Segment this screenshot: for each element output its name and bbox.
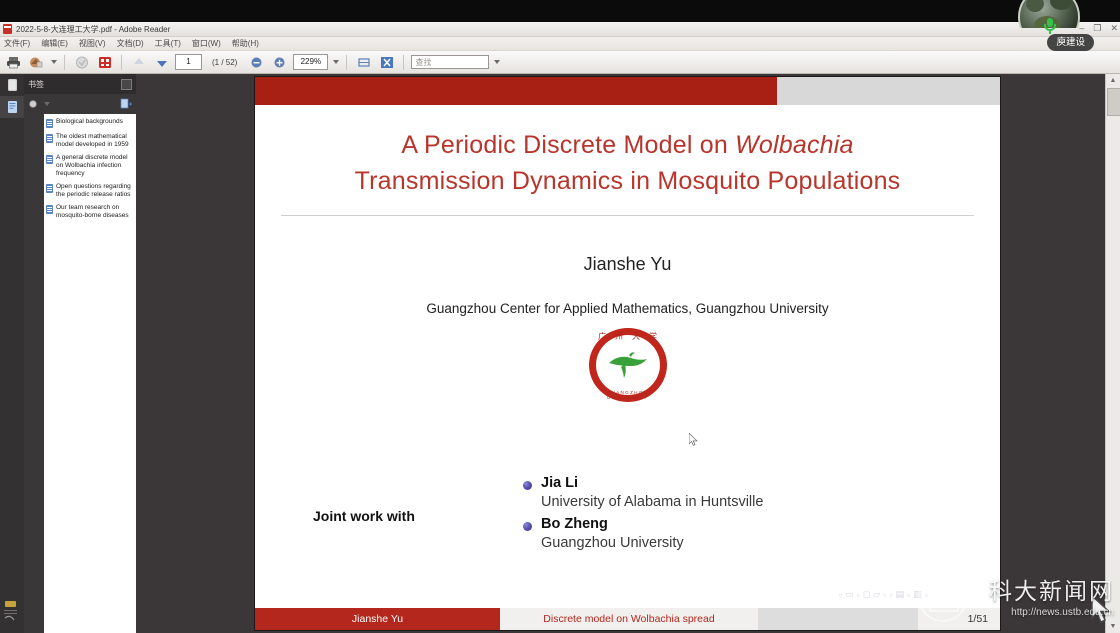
footer-subject: Discrete model on Wolbachia spread [500, 608, 758, 630]
watermark-seal-icon [918, 572, 968, 622]
toolbar[interactable]: 1 (1 / 52) 229% [0, 51, 1120, 74]
bookmarks-icon[interactable] [0, 96, 24, 118]
toolbar-separator-4 [403, 55, 404, 70]
close-button[interactable]: ✕ [1110, 23, 1118, 33]
nav-glyph-icon[interactable]: ▫ [839, 590, 842, 600]
nav-glyph-icon[interactable]: ▭ [845, 589, 854, 600]
banner-red-block [255, 77, 777, 105]
bookmarks-panel: 书签 Biological backgroun [24, 74, 137, 633]
bookmarks-panel-header: 书签 [24, 74, 136, 94]
logo-en-text: GUANGZHOU UNIVERSITY [589, 390, 667, 400]
page-number-input[interactable]: 1 [175, 54, 202, 70]
window-title: 2022-5-8-大连理工大学.pdf - Adobe Reader [16, 24, 170, 35]
window-controls[interactable]: – ❐ ✕ [1079, 23, 1118, 33]
pdf-viewport[interactable]: A Periodic Discrete Model on Wolbachia T… [136, 74, 1106, 633]
bookmarks-list[interactable]: Biological backgrounds The oldest mathem… [44, 114, 136, 633]
slide-author: Jianshe Yu [255, 254, 1000, 275]
slide-top-banner [255, 77, 1000, 105]
zoom-dropdown-icon[interactable] [333, 60, 339, 64]
joint-work-label: Joint work with [313, 475, 523, 557]
menu-file[interactable]: 文件(F) [4, 38, 30, 49]
vertical-scrollbar[interactable]: ▲ ▼ [1105, 74, 1120, 633]
bookmark-icon [46, 134, 53, 143]
screen-share-cursor [1090, 594, 1116, 624]
footer-spacer [758, 608, 918, 630]
bookmark-icon [46, 205, 53, 214]
expand-bookmarks-icon[interactable] [120, 98, 132, 110]
pdf-page: A Periodic Discrete Model on Wolbachia T… [255, 77, 1000, 630]
options-dropdown-icon[interactable] [44, 102, 50, 106]
title-underline [281, 215, 974, 216]
slide-title-wolbachia: Wolbachia [735, 131, 854, 159]
menu-edit[interactable]: 编辑(E) [41, 38, 68, 49]
menu-window[interactable]: 窗口(W) [192, 38, 221, 49]
logo-emblem-icon [605, 350, 651, 380]
options-icon[interactable] [28, 99, 40, 110]
zoom-level-input[interactable]: 229% [293, 54, 328, 70]
speaker-name-badge: 庾建设 [1047, 34, 1094, 51]
slide-footer: Jianshe Yu Discrete model on Wolbachia s… [255, 608, 1000, 630]
bookmark-icon [46, 155, 53, 164]
bookmark-item[interactable]: The oldest mathematical model developed … [46, 133, 134, 149]
guangzhou-university-logo: 广州大学 GUANGZHOU UNIVERSITY [589, 328, 667, 402]
nav-glyph-icon[interactable]: ◻ [863, 589, 870, 600]
email-icon[interactable] [27, 53, 46, 71]
toolbar-separator-2 [121, 55, 122, 70]
toolbar-separator-3 [346, 55, 347, 70]
zoom-out-icon[interactable] [247, 53, 266, 71]
collaborator-list: Jia Li University of Alabama in Huntsvil… [523, 475, 942, 557]
save-icon[interactable] [72, 53, 91, 71]
joint-work-section: Joint work with Jia Li University of Ala… [255, 475, 1000, 557]
minimize-button[interactable]: – [1079, 23, 1084, 33]
scroll-up-arrow-icon[interactable]: ▲ [1106, 74, 1120, 87]
bookmark-label: The oldest mathematical model developed … [56, 133, 134, 149]
panel-close-icon[interactable] [121, 79, 132, 90]
collaborator-affiliation: University of Alabama in Huntsville [541, 494, 942, 510]
page-count-label: (1 / 52) [212, 58, 237, 67]
screen-share-background: 2022-5-8-大连理工大学.pdf - Adobe Reader – ❐ ✕… [0, 0, 1120, 630]
nav-glyph-icon[interactable]: ▫ [883, 590, 886, 600]
collaborator-name: Bo Zheng [541, 516, 608, 532]
nav-glyph-icon[interactable]: ▫ [907, 590, 910, 600]
bookmark-label: A general discrete model on Wolbachia in… [56, 154, 134, 178]
slide-title-line2: Transmission Dynamics in Mosquito Popula… [355, 167, 901, 195]
page-thumbnails-icon[interactable] [0, 74, 24, 96]
bookmark-label: Our team research on mosquito-borne dise… [56, 204, 134, 220]
bullet-icon [523, 481, 532, 490]
logo-cn-text: 广州大学 [589, 331, 667, 342]
fullscreen-icon[interactable] [377, 53, 396, 71]
bookmark-item[interactable]: Biological backgrounds [46, 118, 134, 128]
rail-bottom-tools[interactable] [2, 600, 22, 629]
acrobat-com-icon[interactable] [95, 53, 114, 71]
maximize-button[interactable]: ❐ [1093, 23, 1101, 33]
menubar[interactable]: 文件(F) 编辑(E) 视图(V) 文档(D) 工具(T) 窗口(W) 帮助(H… [0, 37, 1120, 51]
menu-view[interactable]: 视图(V) [79, 38, 106, 49]
list-item: Bo Zheng [523, 516, 942, 532]
collaborator-name: Jia Li [541, 475, 578, 491]
menu-help[interactable]: 帮助(H) [232, 38, 259, 49]
bookmark-label: Open questions regarding the periodic re… [56, 183, 134, 199]
banner-gray-block [777, 77, 1001, 105]
zoom-in-icon[interactable] [270, 53, 289, 71]
bookmark-item[interactable]: A general discrete model on Wolbachia in… [46, 154, 134, 178]
window-titlebar: 2022-5-8-大连理工大学.pdf - Adobe Reader – ❐ ✕ [0, 22, 1120, 37]
slide-title-line1-plain: A Periodic Discrete Model on [401, 131, 735, 159]
bookmarks-toolbar[interactable] [24, 94, 136, 114]
slide-affiliation: Guangzhou Center for Applied Mathematics… [255, 301, 1000, 316]
next-page-icon[interactable] [152, 53, 171, 71]
navigation-rail[interactable] [0, 74, 25, 633]
list-item: Jia Li [523, 475, 942, 491]
bookmark-icon [46, 119, 53, 128]
menu-document[interactable]: 文档(D) [117, 38, 144, 49]
bookmark-item[interactable]: Our team research on mosquito-borne dise… [46, 204, 134, 220]
toolbar-separator [64, 55, 65, 70]
scrollbar-thumb[interactable] [1107, 88, 1120, 116]
bookmark-label: Biological backgrounds [56, 118, 123, 126]
email-dropdown-icon[interactable] [51, 60, 57, 64]
adobe-reader-window: 2022-5-8-大连理工大学.pdf - Adobe Reader – ❐ ✕… [0, 22, 1120, 630]
collaborator-affiliation: Guangzhou University [541, 535, 942, 551]
microphone-icon [1043, 18, 1057, 34]
find-input[interactable]: 查找 [411, 55, 489, 69]
slide-title: A Periodic Discrete Model on Wolbachia T… [255, 127, 1000, 199]
nav-glyph-icon[interactable]: ▤ [896, 589, 905, 600]
workarea: 书签 Biological backgroun [0, 74, 1120, 633]
menu-tools[interactable]: 工具(T) [155, 38, 181, 49]
beamer-navigation-bar[interactable]: ▫ ▭ ▫ ◻ ▱ ▫ ▫ ▤ ▫ ▥ ▫ [839, 589, 928, 600]
fit-width-icon[interactable] [354, 53, 373, 71]
find-dropdown-icon[interactable] [494, 60, 500, 64]
mouse-cursor [689, 433, 698, 446]
footer-author: Jianshe Yu [255, 608, 500, 630]
print-icon[interactable] [4, 53, 23, 71]
previous-page-icon[interactable] [129, 53, 148, 71]
bookmark-icon [46, 184, 53, 193]
adobe-reader-icon [3, 24, 12, 34]
nav-glyph-icon[interactable]: ▫ [889, 590, 892, 600]
nav-glyph-icon[interactable]: ▱ [873, 589, 880, 600]
nav-glyph-icon[interactable]: ▫ [857, 590, 860, 600]
bookmark-item[interactable]: Open questions regarding the periodic re… [46, 183, 134, 199]
bookmarks-panel-title: 书签 [28, 79, 44, 90]
bullet-icon [523, 522, 532, 531]
